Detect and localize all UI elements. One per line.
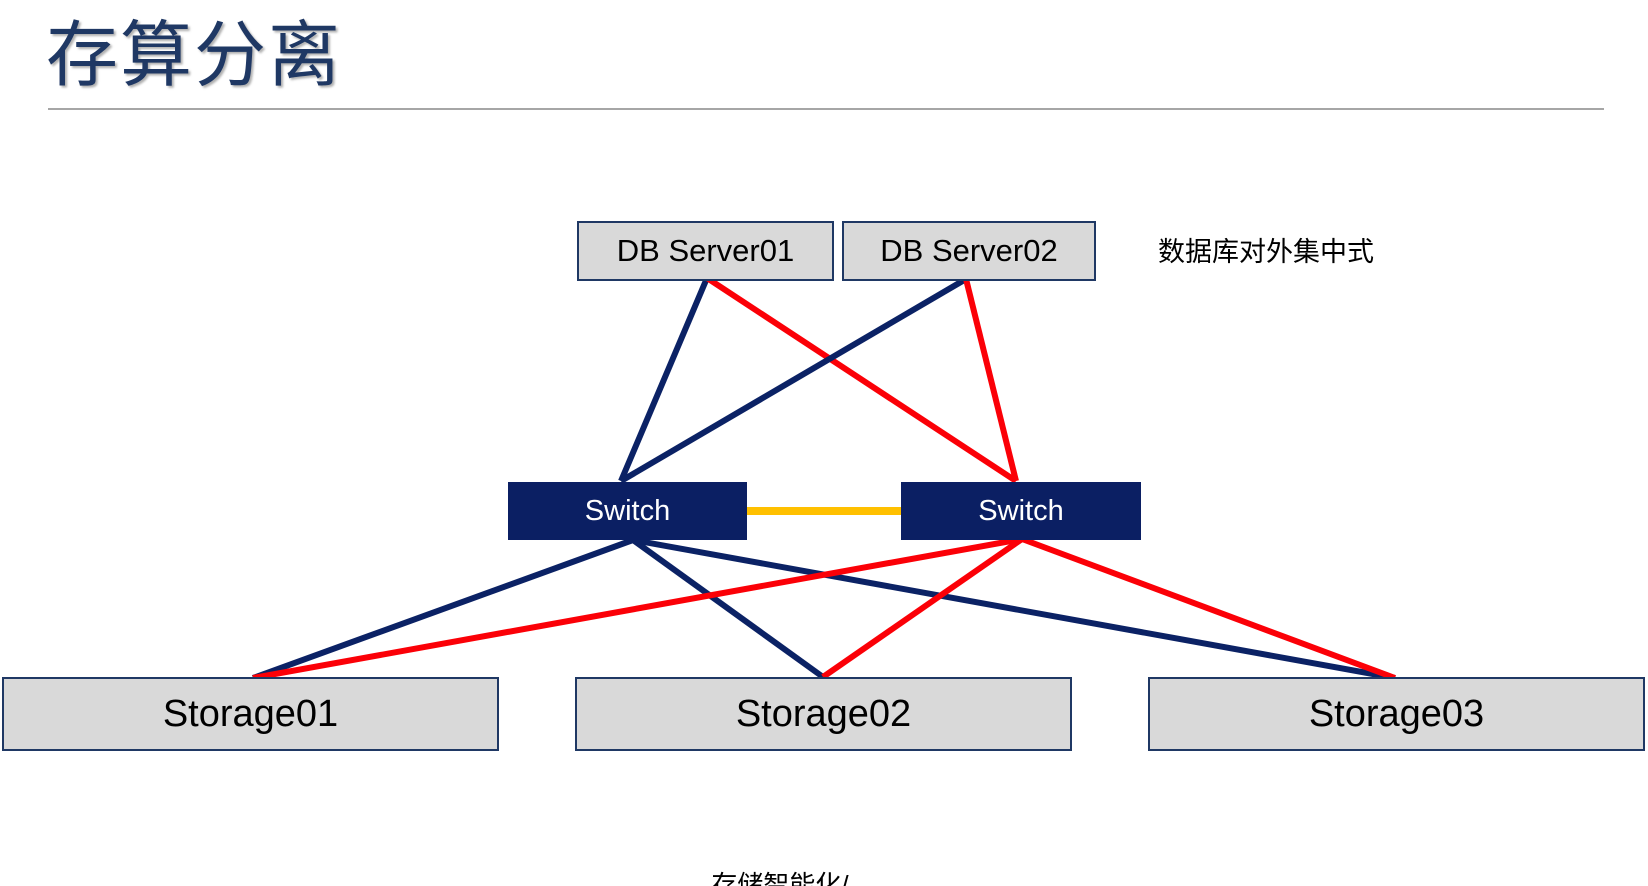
link-dbserver01-switchright	[707, 278, 1016, 481]
link-dbserver02-switchright	[966, 279, 1016, 481]
link-switchright-storage01	[253, 539, 1022, 678]
link-switchleft-storage01	[253, 540, 633, 678]
node-switch-right[interactable]: Switch	[901, 482, 1141, 540]
link-switchleft-storage02	[633, 540, 823, 677]
node-label: Storage03	[1309, 693, 1484, 736]
node-label: DB Server02	[880, 233, 1057, 269]
annotation-bottom: 存储智能化/ 分布式	[640, 795, 920, 886]
annotation-top-right: 数据库对外集中式	[1158, 235, 1374, 269]
node-label: Switch	[978, 495, 1063, 528]
node-label: Switch	[585, 495, 670, 528]
connector-layer	[0, 0, 1648, 886]
node-switch-left[interactable]: Switch	[508, 482, 747, 540]
link-dbserver02-switchleft	[621, 279, 966, 481]
node-storage-01[interactable]: Storage01	[2, 677, 499, 751]
link-dbserver01-switchleft	[621, 278, 707, 481]
node-db-server-02[interactable]: DB Server02	[842, 221, 1096, 281]
node-storage-03[interactable]: Storage03	[1148, 677, 1645, 751]
node-label: DB Server01	[617, 233, 794, 269]
slide-canvas: 存算分离 DB Server01 DB Server02 Switch Swit…	[0, 0, 1648, 886]
page-title: 存算分离	[46, 8, 342, 104]
link-switchright-storage02	[823, 539, 1022, 677]
node-label: Storage02	[736, 693, 911, 736]
link-switchleft-storage03	[633, 540, 1395, 678]
node-label: Storage01	[163, 693, 338, 736]
node-db-server-01[interactable]: DB Server01	[577, 221, 834, 281]
title-divider	[48, 108, 1604, 110]
link-switchright-storage03	[1022, 539, 1395, 678]
node-storage-02[interactable]: Storage02	[575, 677, 1072, 751]
annotation-bottom-line-1: 存储智能化/	[640, 867, 920, 886]
